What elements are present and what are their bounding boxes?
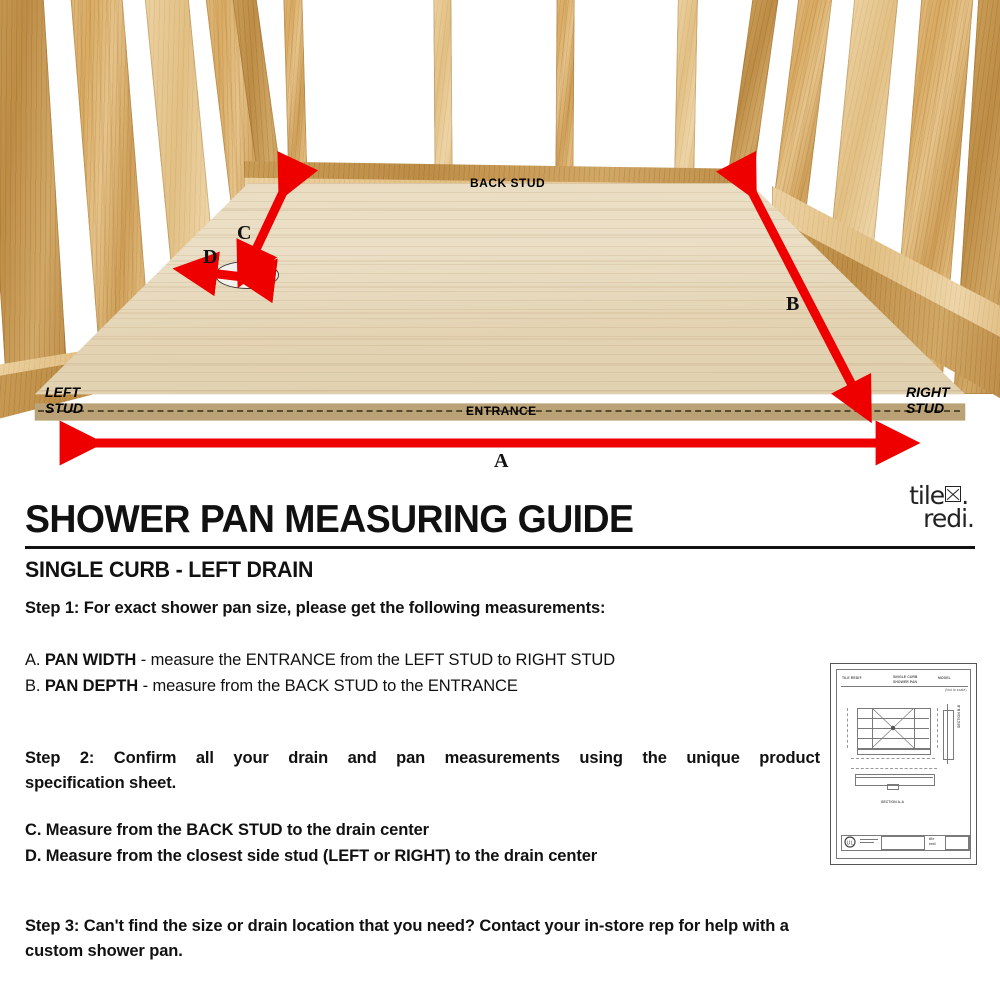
dim-label-b: B xyxy=(786,293,799,316)
step-3-line-2: custom shower pan. xyxy=(25,939,977,964)
spec-plan-curb xyxy=(857,748,931,755)
spec-section-aa-top xyxy=(855,777,933,778)
spec-plan-dim-right xyxy=(937,708,938,748)
step-2-line-2: specification sheet. xyxy=(25,771,820,796)
spec-footer-text-2 xyxy=(860,842,874,843)
page-title: SHOWER PAN MEASURING GUIDE xyxy=(25,498,633,542)
spec-footer-right-field xyxy=(945,836,969,850)
spec-section-bb-label: SECTION B-B xyxy=(957,705,961,728)
spec-footer-text-1 xyxy=(860,839,878,840)
label-right-stud-line1: RIGHT xyxy=(906,385,950,400)
spec-section-aa-label: SECTION A-A xyxy=(881,800,904,804)
step-3-heading: Step 3: Can't find the size or drain loc… xyxy=(25,914,977,964)
title-divider xyxy=(25,546,975,549)
right-corner-post xyxy=(723,0,779,210)
spec-section-aa-dim xyxy=(851,768,937,769)
svg-text:UL: UL xyxy=(847,840,854,846)
measurement-b-line: B. PAN DEPTH - measure from the BACK STU… xyxy=(25,674,518,699)
label-right-stud-line2: STUD xyxy=(906,401,944,416)
spec-section-bb-centerline xyxy=(947,704,948,764)
measurement-a-term: PAN WIDTH xyxy=(45,651,136,669)
measurement-a-desc: - measure the ENTRANCE from the LEFT STU… xyxy=(136,651,615,669)
spec-plan-slope-lines xyxy=(857,708,929,748)
spec-header-left: TILE REDI® xyxy=(842,676,862,680)
tile-redi-logo: tile. redi. xyxy=(909,484,974,530)
logo-text-redi: redi xyxy=(923,504,967,533)
dim-label-d: D xyxy=(203,246,217,269)
dim-label-c: C xyxy=(237,222,251,245)
spec-scale-note: (Not to scale) xyxy=(945,688,967,692)
label-left-stud-line2: STUD xyxy=(45,401,83,416)
step-3-line-1: Step 3: Can't find the size or drain loc… xyxy=(25,914,977,939)
back-wall-stud-3 xyxy=(555,0,574,184)
label-back-stud: BACK STUD xyxy=(470,176,545,190)
back-wall-stud-2 xyxy=(433,0,452,186)
measurement-b-desc: - measure from the BACK STUD to the ENTR… xyxy=(138,677,518,695)
measurement-a-line: A. PAN WIDTH - measure the ENTRANCE from… xyxy=(25,648,615,673)
spec-footer-brand-2: redi xyxy=(929,842,936,846)
spec-plan-dim-left xyxy=(847,708,848,748)
step-2-heading: Step 2: Confirm all your drain and pan m… xyxy=(25,746,820,796)
spec-section-aa-drain xyxy=(887,784,899,790)
measurement-c-line: C. Measure from the BACK STUD to the dra… xyxy=(25,818,429,843)
label-left-stud-line1: LEFT xyxy=(45,385,80,400)
measurement-b-prefix: B. xyxy=(25,677,45,695)
back-wall-stud-1 xyxy=(283,0,307,190)
step-1-heading: Step 1: For exact shower pan size, pleas… xyxy=(25,596,605,621)
logo-dot-bottom: . xyxy=(967,504,974,533)
spec-section-bb-view xyxy=(943,710,954,760)
step-2-line-1: Step 2: Confirm all your drain and pan m… xyxy=(25,746,820,771)
dim-label-a: A xyxy=(494,450,508,473)
back-wall-stud-4 xyxy=(674,0,698,184)
spec-plan-dim-top xyxy=(851,758,935,759)
spec-header-right: MODEL xyxy=(938,676,951,680)
label-entrance: ENTRANCE xyxy=(466,404,537,418)
ul-certification-icon: UL xyxy=(844,836,858,848)
measurement-a-prefix: A. xyxy=(25,651,45,669)
measurement-d-line: D. Measure from the closest side stud (L… xyxy=(25,844,597,869)
logo-line-redi: redi. xyxy=(909,507,974,530)
measurement-b-term: PAN DEPTH xyxy=(45,677,138,695)
spec-header-rule xyxy=(841,686,968,687)
shower-frame-photo: BACK STUD LEFT STUD RIGHT STUD ENTRANCE … xyxy=(0,0,1000,478)
product-specification-sheet-thumbnail: TILE REDI® SINGLE CURB SHOWER PAN MODEL … xyxy=(830,663,977,865)
x-in-box-icon xyxy=(945,486,961,502)
drain-hole xyxy=(215,261,279,289)
left-wall-stud-1 xyxy=(0,0,69,394)
spec-header-mid-2: SHOWER PAN xyxy=(893,680,917,684)
spec-footer-mid-field xyxy=(881,836,925,850)
page-subtitle: SINGLE CURB - LEFT DRAIN xyxy=(25,557,313,583)
spec-sheet-border: TILE REDI® SINGLE CURB SHOWER PAN MODEL … xyxy=(836,669,971,859)
